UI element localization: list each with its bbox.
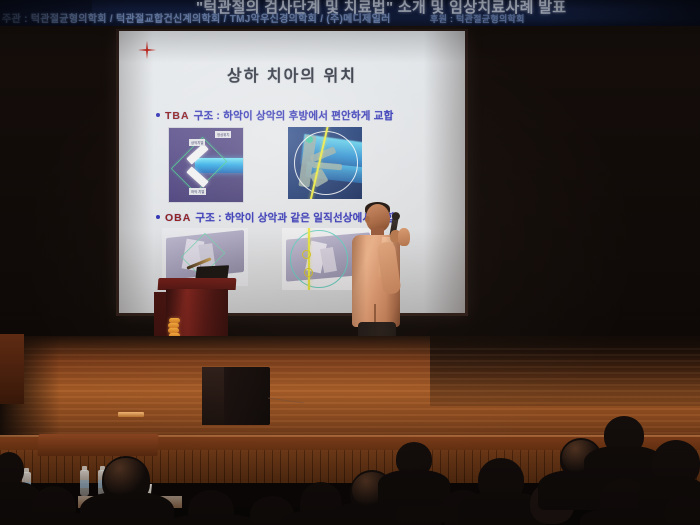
bottle-label: [80, 480, 89, 488]
water-bottle: [80, 470, 89, 496]
figure-ring-marker-b: [304, 268, 313, 277]
bullet-text-tba: 구조 : 하악이 상악의 후방에서 편안하게 교합: [194, 110, 394, 122]
banner-support: 후원 : 턱관절균형의학회: [430, 12, 525, 25]
stage-monitor-face: [202, 367, 224, 425]
figure-circle-overlay: [294, 131, 358, 195]
figure-caption-top: 상악치열: [189, 139, 205, 146]
figure-axis-line: [308, 228, 310, 290]
figure-caption-corner: 정상위치: [215, 131, 231, 138]
audience-shoulders: [80, 492, 174, 525]
presenter-raised-hand: [398, 228, 410, 246]
bullet-dot-icon: [156, 215, 160, 219]
event-banner: "턱관절의 검사단계 및 치료법" 소개 및 임상치료사례 발표 주관 : 턱관…: [0, 0, 700, 26]
slide-bullet-tba: TBA구조 : 하악이 상악의 후방에서 편안하게 교합: [156, 108, 393, 123]
lecture-hall-photo: "턱관절의 검사단계 및 치료법" 소개 및 임상치료사례 발표 주관 : 턱관…: [0, 0, 700, 525]
audience-head: [664, 496, 700, 525]
bullet-dot-icon: [156, 113, 160, 117]
power-strip: [118, 412, 144, 417]
stage-floor-shadow-right: [430, 336, 700, 406]
banner-organizers: 주관 : 턱관절균형의학회 / 턱관절교합건신계의학회 / TMJ악우신경의학회…: [2, 10, 391, 25]
slide-title: 상하 치아의 위치: [119, 62, 465, 86]
stage-left-wall-panel: [0, 334, 24, 404]
figure-tba-schematic-lateral: 상악치열 하악 치열 정상위치: [168, 127, 244, 203]
figure-circle-overlay: [290, 230, 348, 288]
figure-ring-marker-a: [302, 250, 311, 259]
bullet-code-tba: TBA: [165, 110, 190, 122]
audience-head: [0, 452, 24, 486]
audience-shoulders: [378, 470, 450, 506]
front-table: [37, 434, 158, 456]
presenter-ear: [365, 216, 370, 223]
figure-tba-radiograph: [288, 127, 362, 199]
red-star-sparkle-icon: [138, 41, 156, 59]
figure-caption-bottom: 하악 치열: [189, 188, 206, 195]
audience-shoulders: [168, 514, 258, 525]
bullet-code-oba: OBA: [165, 212, 191, 224]
